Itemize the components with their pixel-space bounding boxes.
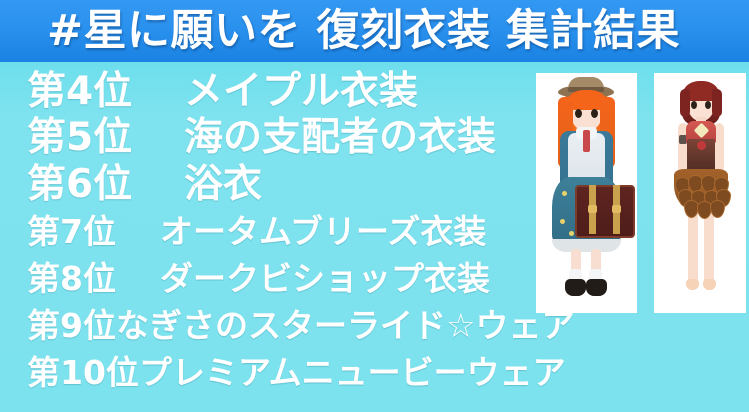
rank-label-8: 第8位 [27, 259, 160, 299]
rank-label-9: 第9位 [27, 306, 116, 346]
avatar-foot-right [703, 279, 716, 290]
avatar-skirt-dot [562, 191, 567, 196]
item-name-6: 浴衣 [184, 163, 262, 207]
avatar-skirt-dot [560, 219, 565, 224]
avatar-suitcase-lock [588, 205, 597, 213]
item-name-10: プレミアムニュービーウェア [139, 353, 566, 393]
autumn-breeze-outfit-avatar [654, 73, 746, 313]
ranking-row-9: 第9位 なぎさのスターライド☆ウェア [0, 306, 530, 346]
avatar-suitcase-lock [612, 205, 621, 213]
header-bar: #星に願いを 復刻衣装 集計結果 [0, 0, 749, 62]
ranking-row-5: 第5位 海の支配者の衣装 [0, 116, 530, 160]
avatar-eye-left [691, 101, 697, 109]
rank-label-4: 第4位 [27, 70, 184, 114]
rank-label-6: 第6位 [27, 163, 184, 207]
avatar-panel-maple [536, 73, 637, 313]
rank-label-5: 第5位 [27, 116, 184, 160]
page-title: #星に願いを 復刻衣装 集計結果 [47, 3, 680, 59]
avatar-skirt-petal [710, 200, 725, 218]
ranking-slide: #星に願いを 復刻衣装 集計結果 第4位 メイプル衣装 第5位 海の支配者の衣装… [0, 0, 749, 412]
item-name-4: メイプル衣装 [184, 70, 418, 114]
ranking-row-7: 第7位 オータムブリーズ衣装 [0, 212, 530, 252]
avatar-eye-left [575, 109, 582, 118]
item-name-7: オータムブリーズ衣装 [160, 212, 486, 252]
ranking-list: 第4位 メイプル衣装 第5位 海の支配者の衣装 第6位 浴衣 第7位 オータムブ… [0, 62, 530, 412]
maple-outfit-avatar [536, 73, 637, 313]
avatar-hair-left [680, 89, 690, 117]
item-name-5: 海の支配者の衣装 [184, 116, 496, 160]
rank-label-7: 第7位 [27, 212, 160, 252]
avatar-panel-autumn-breeze [654, 73, 746, 313]
avatar-suitcase [575, 185, 635, 238]
ranking-row-4: 第4位 メイプル衣装 [0, 70, 530, 114]
avatar-foot-left [686, 279, 699, 290]
avatar-shoe-left [565, 279, 586, 296]
ranking-row-8: 第8位 ダークビショップ衣装 [0, 259, 530, 299]
rank-label-10: 第10位 [27, 353, 139, 393]
avatar-eye-right [591, 109, 598, 118]
avatar-hair-right [712, 89, 722, 117]
item-name-9: なぎさのスターライド☆ウェア [116, 306, 575, 346]
avatar-leg-left [688, 207, 698, 285]
avatar-shoe-right [586, 279, 607, 296]
avatar-skirt-dot [569, 231, 574, 236]
avatar-necktie [583, 130, 590, 152]
ranking-row-6: 第6位 浴衣 [0, 163, 530, 207]
avatar-eye-right [705, 101, 711, 109]
ranking-row-10: 第10位 プレミアムニュービーウェア [0, 353, 530, 393]
avatar-chest-jewel [697, 141, 706, 150]
item-name-8: ダークビショップ衣装 [160, 259, 490, 299]
avatar-skirt-hem [552, 239, 621, 252]
